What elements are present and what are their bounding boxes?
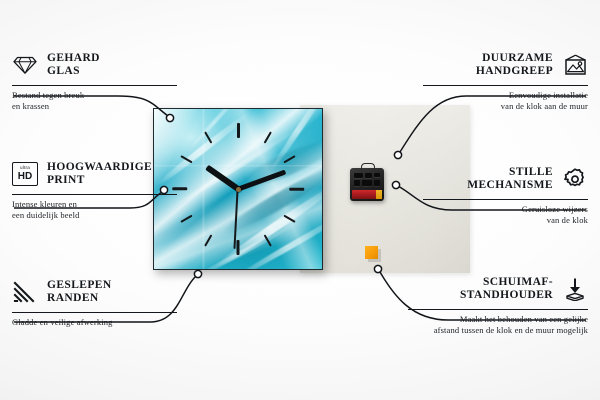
feature-header: GESLEPEN RANDEN [12, 275, 177, 309]
feature-description-line2: van de klok aan de muur [423, 101, 588, 112]
feature-divider [12, 85, 177, 86]
feature-description-line1: Intense kleuren en [12, 199, 177, 210]
gear-icon [562, 166, 588, 192]
hd-label: HD [18, 172, 32, 182]
feature-divider [12, 194, 177, 195]
feature-title: STILLE MECHANISME [467, 166, 553, 193]
feature-header: STILLE MECHANISME [423, 162, 588, 196]
feature-description-line1: Bestand tegen breuk [12, 90, 177, 101]
feature-divider [12, 312, 177, 313]
feature-description-line2: een duidelijk beeld [12, 210, 177, 221]
feature-description-line1: Geruisloze wijzers [423, 204, 588, 215]
arrow-down-to-base-icon [562, 276, 588, 302]
connector-dot-geslepen-randen [194, 270, 201, 277]
feature-schuimaf-standhouder: SCHUIMAF- STANDHOUDER Maakt het behouden… [408, 272, 588, 336]
feature-title: GEHARD GLAS [47, 52, 100, 79]
feature-duurzame-handgreep: DUURZAME HANDGREEP Eenvoudige installati… [423, 48, 588, 112]
feature-header: SCHUIMAF- STANDHOUDER [408, 272, 588, 306]
feature-geslepen-randen: GESLEPEN RANDEN Gladde en veilige afwerk… [12, 275, 177, 328]
feature-header: DUURZAME HANDGREEP [423, 48, 588, 82]
feature-header: ultra HD HOOGWAARDIGE PRINT [12, 157, 177, 191]
feature-header: GEHARD GLAS [12, 48, 177, 82]
feature-title: GESLEPEN RANDEN [47, 279, 112, 306]
product-feature-infographic: + [0, 0, 600, 400]
feature-divider [408, 309, 588, 310]
feature-description-line2: afstand tussen de klok en de muur mogeli… [408, 325, 588, 336]
feature-description-line2: van de klok [423, 215, 588, 226]
connector-dot-schuimaf-standhouder [374, 265, 381, 272]
connector-dot-gehard-glas [166, 114, 173, 121]
beveled-edges-icon [12, 279, 38, 305]
feature-gehard-glas: GEHARD GLAS Bestand tegen breuk en krass… [12, 48, 177, 112]
ultra-hd-badge-icon: ultra HD [12, 161, 38, 187]
connector-dot-duurzame-handgreep [394, 151, 401, 158]
feature-description-line1: Gladde en veilige afwerking [12, 317, 177, 328]
feature-hoogwaardige-print: ultra HD HOOGWAARDIGE PRINT Intense kleu… [12, 157, 177, 221]
feature-title: SCHUIMAF- STANDHOUDER [460, 276, 553, 303]
feature-title: HOOGWAARDIGE PRINT [47, 161, 152, 188]
framed-picture-icon [562, 52, 588, 78]
connector-dot-stille-mechanisme [392, 181, 399, 188]
feature-description-line1: Maakt het behouden van een gelijke [408, 314, 588, 325]
diamond-icon [12, 52, 38, 78]
feature-description-line2: en krassen [12, 101, 177, 112]
feature-stille-mechanisme: STILLE MECHANISME Geruisloze wijzers van… [423, 162, 588, 226]
feature-divider [423, 199, 588, 200]
feature-divider [423, 85, 588, 86]
feature-title: DUURZAME HANDGREEP [476, 52, 553, 79]
feature-description-line1: Eenvoudige installatie [423, 90, 588, 101]
